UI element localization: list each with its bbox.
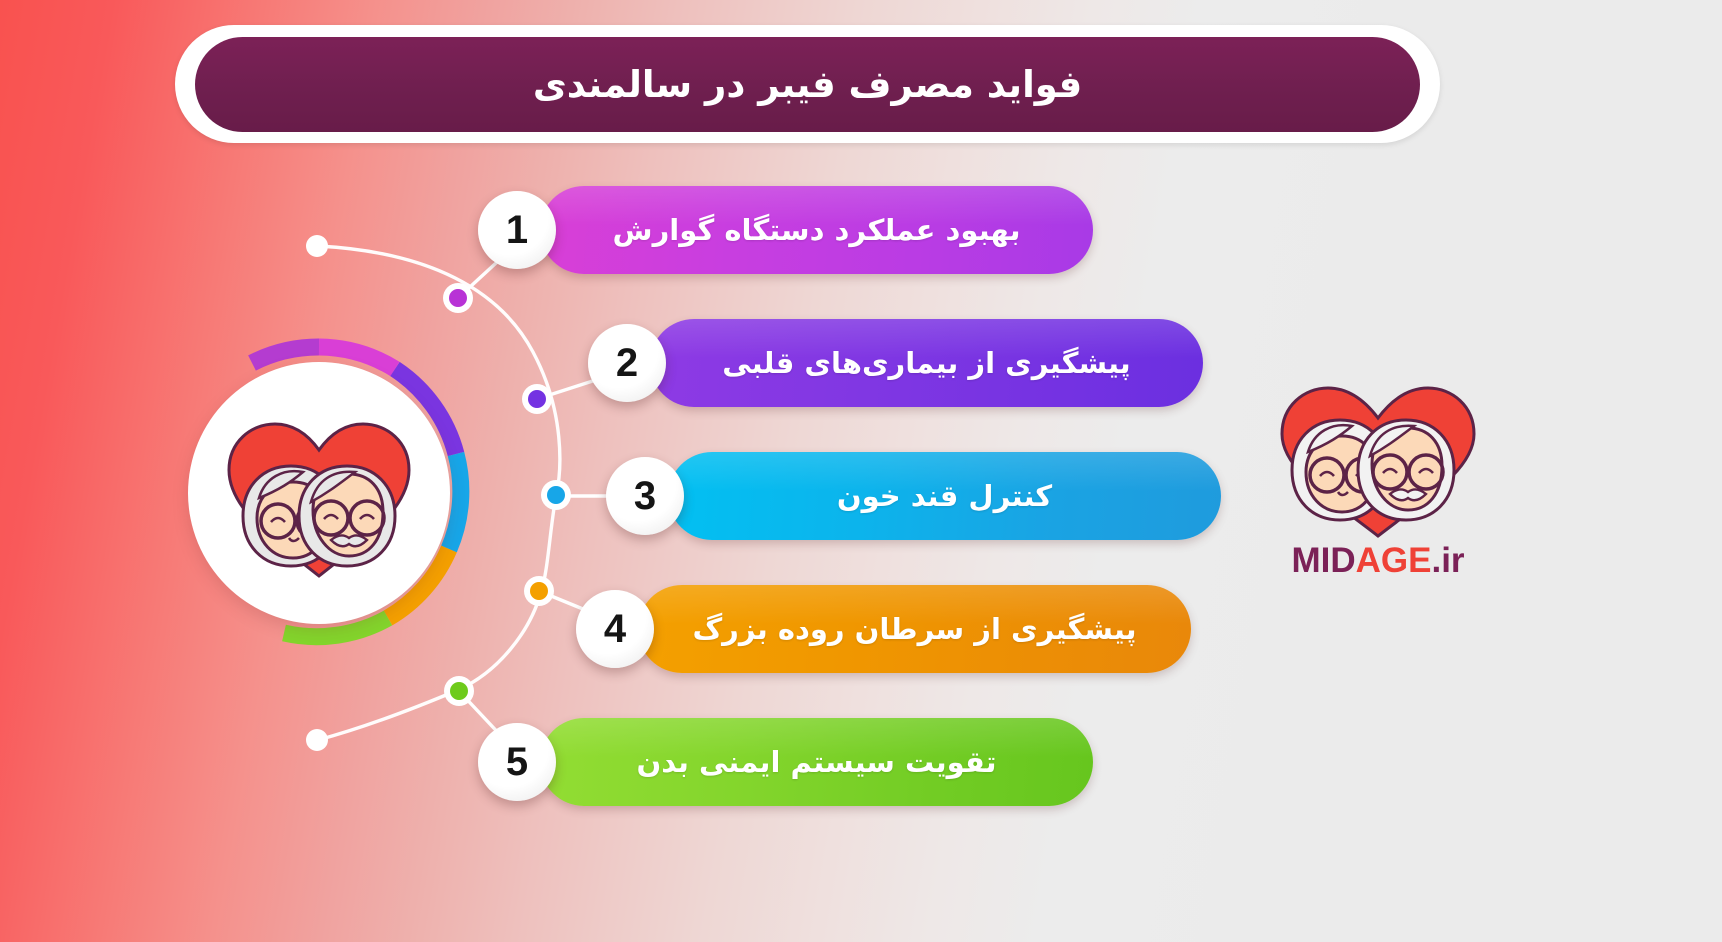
logo-part-mid: MID — [1291, 541, 1355, 580]
benefit-number-5: 5 — [478, 723, 556, 801]
logo-part-age: AGE — [1356, 541, 1432, 580]
page-title: فواید مصرف فیبر در سالمندی — [533, 63, 1082, 106]
benefit-label-3: کنترل قند خون — [837, 479, 1052, 513]
benefit-row-5[interactable]: تقویت سیستم ایمنی بدن 5 — [0, 718, 1100, 806]
benefit-number-1: 1 — [478, 191, 556, 269]
benefit-number-4-text: 4 — [604, 607, 626, 652]
benefit-label-2: پیشگیری از بیماری‌های قلبی — [722, 346, 1130, 380]
infographic-canvas: فواید مصرف فیبر در سالمندی — [0, 0, 1722, 942]
benefit-number-1-text: 1 — [506, 208, 528, 253]
benefit-number-5-text: 5 — [506, 740, 528, 785]
benefit-bar-5[interactable]: تقویت سیستم ایمنی بدن — [540, 718, 1093, 806]
benefit-row-3[interactable]: کنترل قند خون 3 — [0, 452, 1230, 540]
benefit-bar-4[interactable]: پیشگیری از سرطان روده بزرگ — [638, 585, 1191, 673]
brand-logo[interactable]: MIDAGE.ir — [1262, 378, 1494, 598]
benefit-label-5: تقویت سیستم ایمنی بدن — [636, 745, 996, 779]
title-banner: فواید مصرف فیبر در سالمندی — [175, 25, 1440, 143]
benefit-bar-1[interactable]: بهبود عملکرد دستگاه گوارش — [540, 186, 1093, 274]
logo-part-tld: .ir — [1431, 541, 1464, 580]
benefit-row-1[interactable]: بهبود عملکرد دستگاه گوارش 1 — [0, 186, 1100, 274]
benefit-bar-3[interactable]: کنترل قند خون — [668, 452, 1221, 540]
logo-wordmark: MIDAGE.ir — [1262, 541, 1494, 581]
benefit-row-2[interactable]: پیشگیری از بیماری‌های قلبی 2 — [0, 319, 1210, 407]
benefit-number-3: 3 — [606, 457, 684, 535]
benefit-number-2-text: 2 — [616, 341, 638, 386]
benefit-number-3-text: 3 — [634, 474, 656, 519]
title-bar: فواید مصرف فیبر در سالمندی — [195, 37, 1420, 132]
benefit-label-1: بهبود عملکرد دستگاه گوارش — [613, 213, 1021, 247]
benefit-row-4[interactable]: پیشگیری از سرطان روده بزرگ 4 — [0, 585, 1200, 673]
benefit-bar-2[interactable]: پیشگیری از بیماری‌های قلبی — [650, 319, 1203, 407]
benefit-label-4: پیشگیری از سرطان روده بزرگ — [692, 612, 1136, 646]
benefit-number-2: 2 — [588, 324, 666, 402]
logo-couple-heart-icon — [1262, 378, 1494, 543]
benefit-number-4: 4 — [576, 590, 654, 668]
